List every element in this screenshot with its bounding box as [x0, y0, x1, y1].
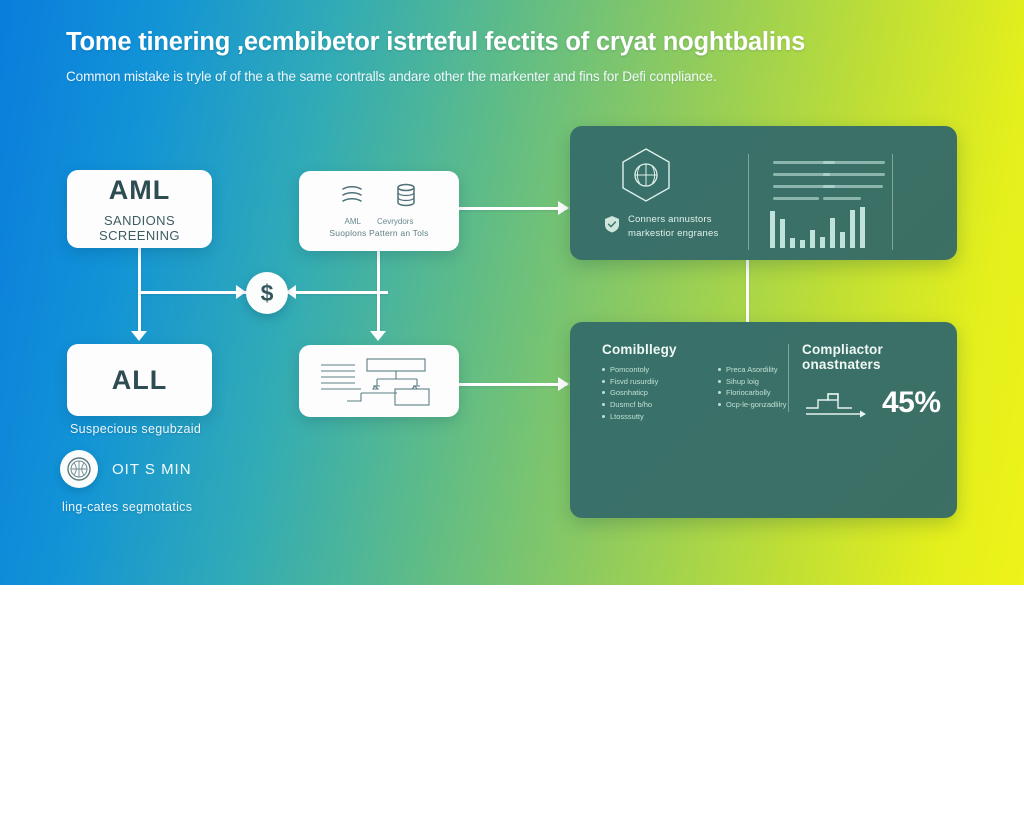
arrowhead-right-panel-bottom	[558, 377, 569, 391]
card-all-title: ALL	[112, 365, 167, 396]
kpi-title: Compliactor onastnaters	[802, 342, 950, 372]
arrowhead-down-flow	[370, 331, 386, 341]
panel-top-label-line1: Conners annustors	[628, 213, 718, 227]
card-aml[interactable]: AML SANDIONS SCREENING	[67, 170, 212, 248]
arrowhead-down-all	[131, 331, 147, 341]
card-aml-subtitle: SANDIONS SCREENING	[67, 213, 212, 243]
connector-tools-to-panel-top	[459, 207, 567, 210]
list-item: Fisvd rusurdiiy	[602, 376, 700, 388]
connector-tools-to-dollar	[288, 291, 388, 294]
panel-network-overview[interactable]: Conners annustors markestior engranes	[570, 126, 957, 260]
dollar-sign-icon: $	[261, 280, 274, 307]
mini-bar-chart	[770, 196, 885, 248]
tools-label-row: AML Cevrydors	[299, 217, 459, 226]
badge-label: OIT S MIN	[112, 461, 192, 478]
tools-caption: Suoplons Pattern an Tols	[299, 228, 459, 238]
infographic-canvas: Tome tinering ,ecmbibetor istrteful fect…	[0, 0, 1024, 585]
card-tools[interactable]: AML Cevrydors Suoplons Pattern an Tols	[299, 171, 459, 251]
panel-compliance-metrics[interactable]: Comibllegy Pomcontoly Fisvd rusurdiiy Go…	[570, 322, 957, 518]
flowchart-diagram-icon	[299, 404, 459, 421]
connector-aml-to-dollar	[138, 291, 248, 294]
panel-top-label: Conners annustors markestior engranes	[628, 213, 718, 241]
card-all-caption: Suspecious segubzaid	[70, 422, 201, 436]
kpi-block: Compliactor onastnaters 45%	[802, 342, 950, 425]
badge-row[interactable]: OIT S MIN	[60, 450, 192, 488]
connector-flow-to-panel-bottom	[459, 383, 567, 386]
list-item: Dusmcf b/ho	[602, 399, 700, 411]
bullets-left: Pomcontoly Fisvd rusurdiiy Gosnhaticp Du…	[602, 364, 700, 422]
list-item: Pomcontoly	[602, 364, 700, 376]
shield-check-icon	[604, 215, 620, 238]
hexagon-globe-icon	[618, 146, 674, 209]
card-aml-title: AML	[109, 175, 170, 206]
arrowhead-right-dollar	[236, 285, 246, 299]
panel-bottom-divider	[788, 344, 789, 412]
connector-tools-to-flow	[377, 251, 380, 335]
page-subtitle: Common mistake is tryle of of the a the …	[66, 69, 966, 84]
database-icon	[393, 182, 419, 213]
page-title: Tome tinering ,ecmbibetor istrteful fect…	[66, 28, 966, 57]
arrowhead-right-panel-top	[558, 201, 569, 215]
dollar-node[interactable]: $	[246, 272, 288, 314]
globe-seal-icon	[60, 450, 98, 488]
list-item: Ltosssutty	[602, 411, 700, 423]
header-block: Tome tinering ,ecmbibetor istrteful fect…	[66, 28, 966, 84]
kpi-value: 45%	[882, 386, 941, 420]
tools-label-left: AML	[345, 217, 361, 226]
list-item: Gosnhaticp	[602, 387, 700, 399]
panel-top-divider-right	[892, 154, 893, 250]
step-chart-arrow-icon	[802, 380, 872, 425]
layers-icon	[339, 182, 365, 213]
panel-top-label-line2: markestior engranes	[628, 227, 718, 241]
panel-top-divider-left	[748, 154, 749, 250]
connector-panel-top-to-bottom	[746, 260, 749, 322]
card-all[interactable]: ALL	[67, 344, 212, 416]
card-flow[interactable]	[299, 345, 459, 417]
tools-label-right: Cevrydors	[377, 217, 413, 226]
badge-caption: ling-cates segmotatics	[62, 500, 192, 514]
tools-icon-row	[299, 171, 459, 213]
